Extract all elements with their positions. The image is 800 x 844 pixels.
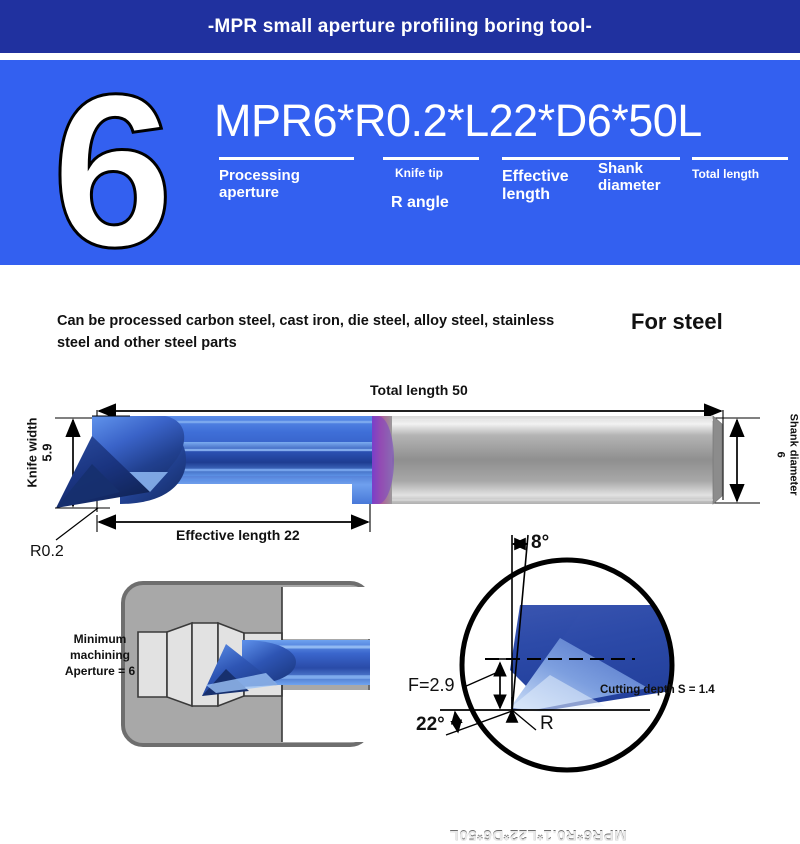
segment-underline (219, 157, 354, 160)
radius-callout-label: R (540, 713, 554, 735)
header-bar: -MPR small aperture profiling boring too… (0, 0, 800, 53)
bore-open-top (282, 587, 370, 639)
segment-label: Processing aperture (219, 168, 300, 202)
knife-width-label: Knife width 5.9 (25, 408, 54, 498)
spec-segment-knife-tip-r-angle: Knife tip R angle (383, 157, 479, 227)
corner-radius-label: R0.2 (30, 543, 64, 561)
shank-diameter-label: Shank diameter 6 (774, 412, 799, 498)
clearance-angle-label: 8° (531, 532, 549, 554)
shank-end-face (713, 416, 722, 504)
total-length-label: Total length 50 (370, 382, 468, 398)
segment-label: Shank diameter (598, 161, 661, 195)
segment-label: Knife tip (395, 167, 443, 180)
segment-label-line2: R angle (391, 194, 449, 212)
lead-angle-arrow (455, 712, 458, 732)
cutting-depth-label: Cutting depth S = 1.4 (600, 684, 715, 696)
badge-number: 6 (52, 63, 173, 281)
product-spec-sheet: -MPR small aperture profiling boring too… (0, 0, 800, 800)
lead-angle-label: 22° (416, 714, 445, 736)
spec-segment-total-length: Total length (692, 157, 788, 227)
page-title: -MPR small aperture profiling boring too… (0, 0, 800, 53)
shank-engraving: MPR6*R0.1*L22*D6*50L (398, 827, 678, 844)
tool-shank (385, 416, 722, 504)
front-dimension-leader (464, 672, 498, 687)
min-aperture-inset: Minimum machining Aperture = 6 (30, 565, 370, 765)
segment-underline (692, 157, 788, 160)
detail-circle-svg (400, 520, 800, 775)
spec-code: MPR6*R0.2*L22*D6*50L (214, 95, 794, 147)
description-text: Can be processed carbon steel, cast iron… (57, 311, 577, 355)
spec-segment-shank-diameter: Shank diameter (598, 150, 680, 226)
segment-label: Effective length (502, 168, 569, 204)
r02-leader-line (56, 508, 98, 540)
min-aperture-label: Minimum machining Aperture = 6 (52, 632, 148, 679)
segment-label: Total length (692, 168, 759, 181)
front-dimension-label: F=2.9 (408, 675, 455, 696)
segment-underline (383, 157, 479, 160)
cutting-geometry-detail: 8° F=2.9 22° R Cutting depth S = 1.4 (400, 520, 800, 775)
effective-length-label: Effective length 22 (176, 527, 300, 543)
bore-open-bottom (282, 690, 370, 742)
spec-segment-processing-aperture: Processing aperture (219, 157, 354, 227)
material-badge: For steel (631, 309, 723, 335)
radius-leader-line (512, 710, 536, 730)
